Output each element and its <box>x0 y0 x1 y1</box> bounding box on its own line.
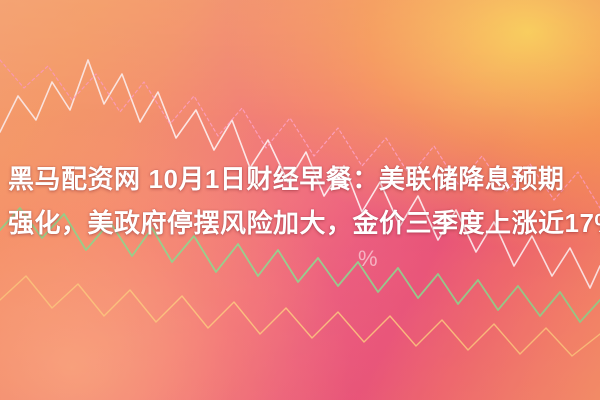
headline-main-1: 10月1日财经早餐：美联储降息预期 <box>149 164 565 194</box>
headline-line-1: 黑马配资网10月1日财经早餐：美联储降息预期 <box>8 158 592 200</box>
headline-line-2: 强化，美政府停摆风险加大，金价三季度上涨近17% <box>8 202 592 244</box>
brand-name: 黑马配资网 <box>8 164 141 194</box>
headline-text: 黑马配资网10月1日财经早餐：美联储降息预期 强化，美政府停摆风险加大，金价三季… <box>0 158 600 244</box>
banner-image: % 黑马配资网10月1日财经早餐：美联储降息预期 强化，美政府停摆风险加大，金价… <box>0 0 600 400</box>
